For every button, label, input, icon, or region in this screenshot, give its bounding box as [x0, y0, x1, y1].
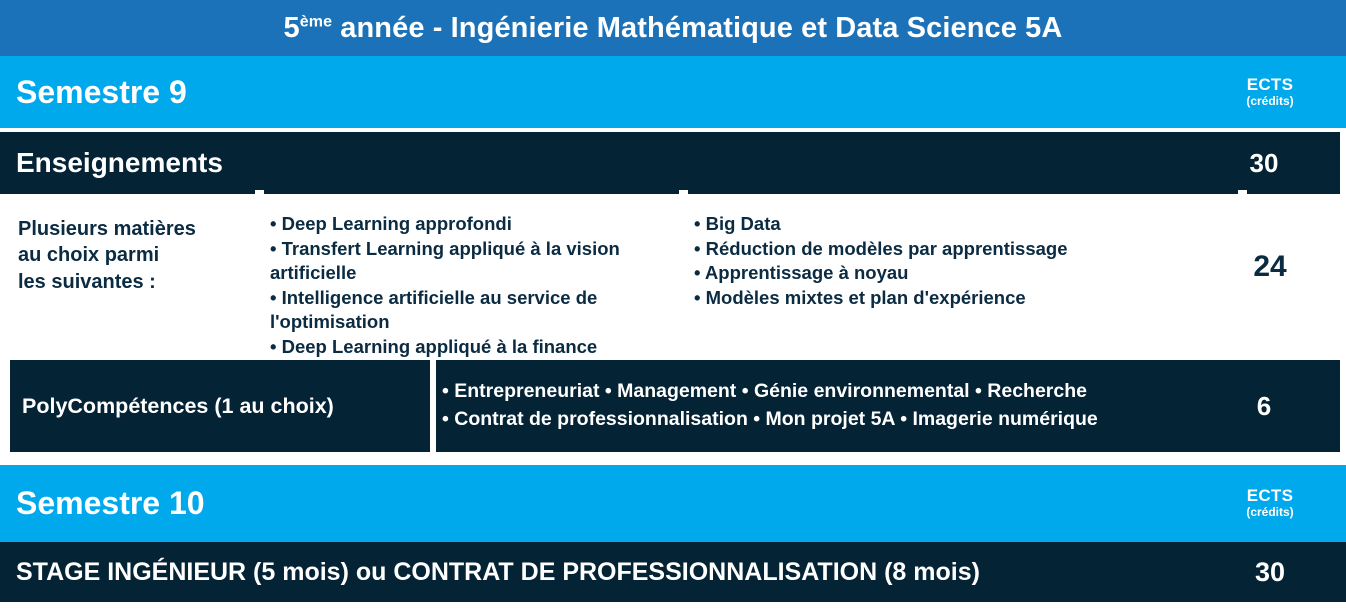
internship-credits: 30 — [1200, 557, 1346, 588]
list-item: • Deep Learning approfondi — [270, 212, 670, 237]
column-tick-2 — [679, 190, 688, 194]
ects-header-s9: ECTS (crédits) — [1200, 76, 1346, 108]
polycompetences-divider — [430, 360, 436, 452]
electives-credits: 24 — [1200, 250, 1346, 284]
electives-label-line-2: au choix parmi — [18, 242, 248, 268]
list-item: • Modèles mixtes et plan d'expérience — [694, 286, 1224, 311]
ects-sublabel: (crédits) — [1200, 94, 1340, 108]
column-tick-1 — [255, 190, 264, 194]
list-item: • Intelligence artificielle au service d… — [270, 286, 670, 335]
list-item: • Deep Learning appliqué à la finance — [270, 335, 670, 360]
teachings-credits: 30 — [1194, 148, 1340, 179]
semester-10-header: Semestre 10 ECTS (crédits) — [0, 465, 1346, 542]
semester-10-label: Semestre 10 — [0, 485, 1200, 522]
internship-label: STAGE INGÉNIEUR (5 mois) ou CONTRAT DE P… — [0, 558, 980, 587]
electives-column-1: • Deep Learning approfondi • Transfert L… — [270, 212, 670, 360]
teachings-label: Enseignements — [0, 147, 223, 179]
polycompetences-credits: 6 — [1194, 360, 1340, 452]
polycompetences-row: PolyCompétences (1 au choix) • Entrepren… — [10, 360, 1340, 452]
internship-row: STAGE INGÉNIEUR (5 mois) ou CONTRAT DE P… — [0, 542, 1346, 602]
electives-label: Plusieurs matières au choix parmi les su… — [18, 216, 248, 295]
teachings-row: Enseignements 30 — [0, 132, 1340, 194]
list-item: • Transfert Learning appliqué à la visio… — [270, 237, 670, 286]
page-title: 5ème année - Ingénierie Mathématique et … — [284, 12, 1063, 45]
column-tick-3 — [1238, 190, 1247, 194]
electives-column-2: • Big Data • Réduction de modèles par ap… — [694, 212, 1224, 310]
list-item: • Big Data — [694, 212, 1224, 237]
list-item: • Contrat de professionnalisation • Mon … — [442, 406, 1222, 434]
polycompetences-label: PolyCompétences (1 au choix) — [22, 360, 428, 452]
program-title-bar: 5ème année - Ingénierie Mathématique et … — [0, 0, 1346, 56]
title-prefix: 5 — [284, 12, 300, 44]
title-rest: année - Ingénierie Mathématique et Data … — [332, 12, 1062, 44]
semester-9-label: Semestre 9 — [0, 74, 1200, 111]
title-ordinal-suffix: ème — [300, 13, 332, 30]
list-item: • Entrepreneuriat • Management • Génie e… — [442, 378, 1222, 406]
ects-header-s10: ECTS (crédits) — [1200, 487, 1346, 519]
electives-label-line-1: Plusieurs matières — [18, 216, 248, 242]
list-item: • Apprentissage à noyau — [694, 261, 1224, 286]
polycompetences-items: • Entrepreneuriat • Management • Génie e… — [442, 360, 1222, 452]
ects-sublabel: (crédits) — [1200, 505, 1340, 519]
ects-label: ECTS — [1200, 76, 1340, 94]
ects-label: ECTS — [1200, 487, 1340, 505]
curriculum-table: 5ème année - Ingénierie Mathématique et … — [0, 0, 1346, 615]
list-item: • Réduction de modèles par apprentissage — [694, 237, 1224, 262]
semester-9-header: Semestre 9 ECTS (crédits) — [0, 56, 1346, 128]
electives-row: Plusieurs matières au choix parmi les su… — [0, 198, 1346, 352]
electives-label-line-3: les suivantes : — [18, 269, 248, 295]
